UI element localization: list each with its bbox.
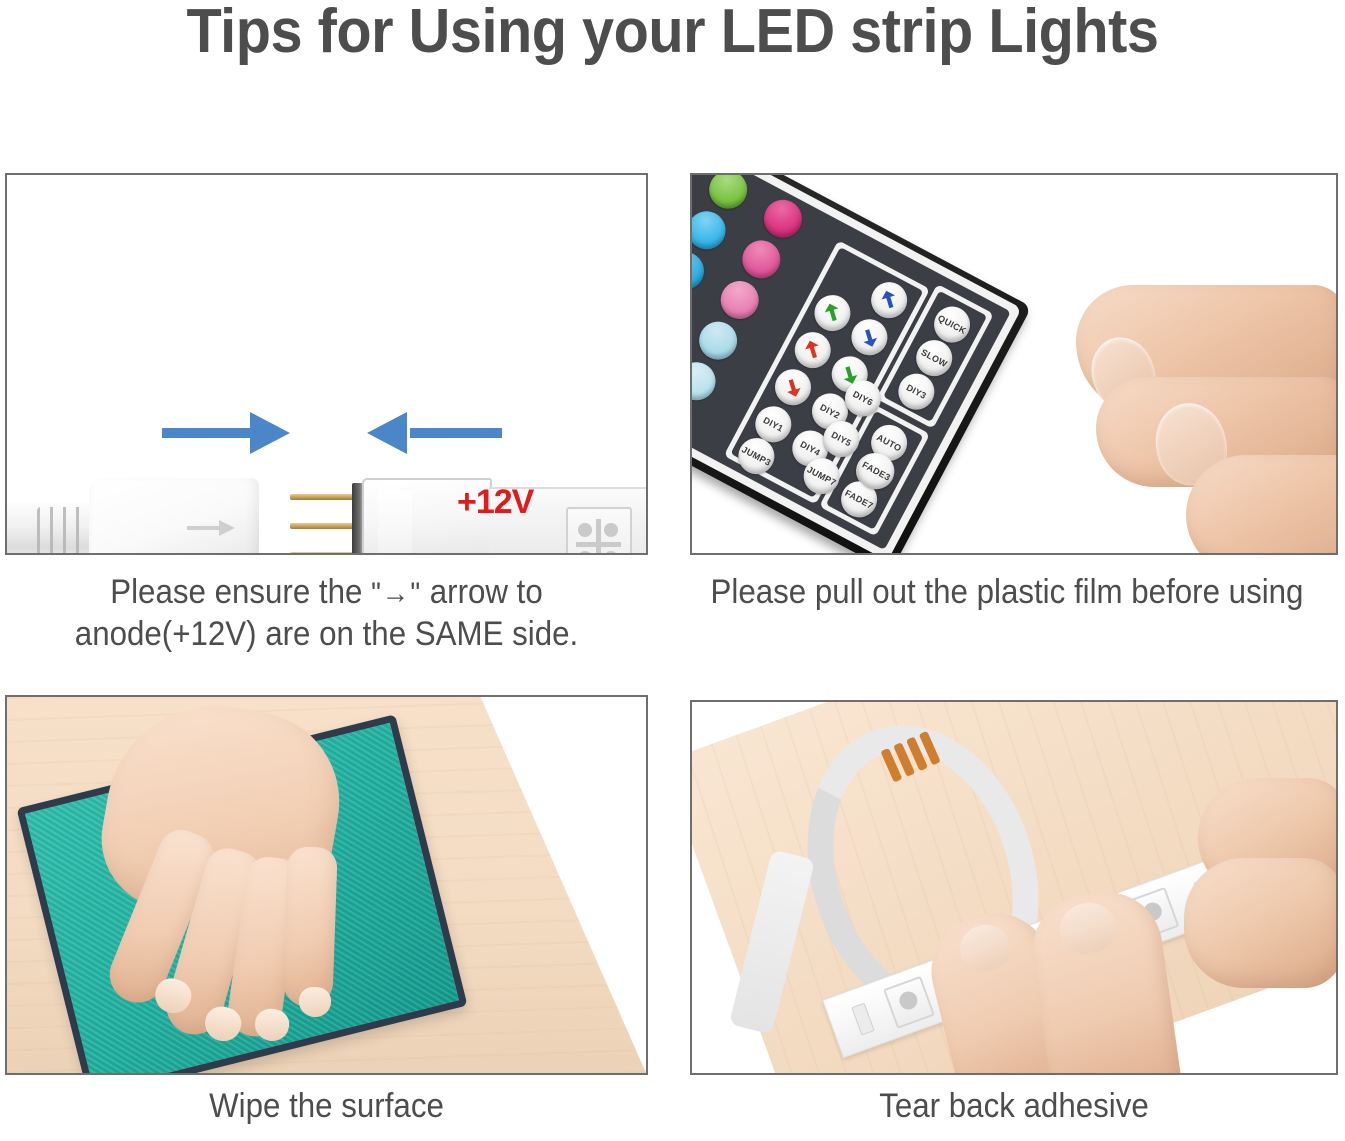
arrow-button-up-left-blue-icon[interactable] (865, 276, 914, 325)
connector-pin (290, 552, 358, 555)
panel-connector: +12V (5, 173, 648, 555)
caption-line1-part1: Please ensure the (110, 573, 362, 611)
strip-resistor (851, 1003, 874, 1036)
arrow-left-blue-icon (367, 410, 502, 456)
color-button-pale-cyan[interactable] (692, 315, 743, 366)
page-title: Tips for Using your LED strip Lights (47, 0, 1298, 68)
color-button-magenta[interactable] (757, 193, 808, 244)
strip-led (883, 976, 935, 1029)
remote-body: DIY1 DIY2 DIY4 JUMP3 QUICK SLOW DIY3 (690, 173, 1032, 555)
caption-wipe: Wipe the surface (31, 1086, 623, 1127)
color-button-light-pink[interactable] (714, 274, 765, 325)
arrow-right-blue-icon (162, 410, 297, 456)
color-button-sky[interactable] (690, 205, 732, 256)
plug-arrow-marking-icon (187, 520, 239, 536)
panel-tear-adhesive: +12V G R B +12V G R B (690, 700, 1338, 1075)
color-button-green[interactable] (702, 173, 753, 215)
connector-plug (89, 478, 259, 555)
remote-faceplate: DIY1 DIY2 DIY4 JUMP3 QUICK SLOW DIY3 (690, 173, 1022, 555)
caption-arrow-glyph: "→" (371, 577, 421, 610)
caption-line1-part2: arrow to (430, 573, 543, 611)
cable-ribs (37, 507, 89, 555)
caption-adhesive: Tear back adhesive (716, 1086, 1312, 1127)
color-button-red[interactable] (690, 173, 699, 186)
led-chip (566, 507, 632, 555)
panel-remote: DIY1 DIY2 DIY4 JUMP3 QUICK SLOW DIY3 (690, 173, 1338, 555)
caption-connector: Please ensure the "→" arrow to anode(+12… (31, 572, 623, 655)
connector-pin (290, 523, 358, 529)
arrow-button-down-right-blue-icon[interactable] (845, 313, 894, 362)
arrow-button-up-left-green-icon[interactable] (808, 289, 857, 338)
caption-line2: anode(+12V) are on the SAME side. (75, 615, 578, 653)
color-button-pink[interactable] (736, 234, 787, 285)
arrow-button-down-right-red-icon[interactable] (769, 363, 818, 412)
panel-wipe-surface (5, 695, 648, 1075)
remote-keypad-area: DIY1 DIY2 DIY4 JUMP3 QUICK SLOW DIY3 (690, 173, 1011, 550)
voltage-label: +12V (457, 483, 533, 522)
hand-pulling-film (1036, 285, 1338, 555)
connector-pin (290, 494, 358, 500)
hand-pressing-strip (942, 893, 1232, 1075)
color-button-white-blue[interactable] (690, 356, 722, 407)
caption-remote: Please pull out the plastic film before … (702, 572, 1311, 613)
arrow-button-up-left-red-icon[interactable] (788, 326, 837, 375)
color-button-cyan[interactable] (690, 245, 711, 296)
hand-wiping (97, 707, 397, 1037)
